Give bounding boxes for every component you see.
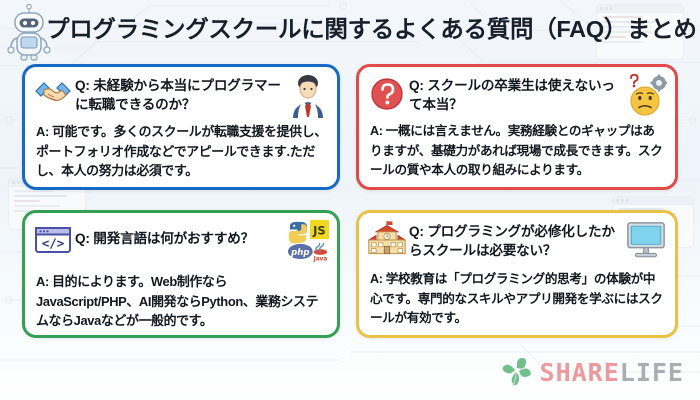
footer-logo: SHARELIFE	[500, 356, 684, 390]
faq-card-graduate-skills: Q: スクールの卒業生は使えないって本当？	[356, 64, 678, 190]
question-mark-circle-icon	[367, 74, 407, 114]
school-building-icon	[367, 220, 407, 260]
businessman-icon	[287, 74, 329, 118]
handshake-icon	[33, 74, 73, 114]
page-title: プログラミングスクールに関するよくある質問（FAQ）まとめ	[46, 12, 696, 46]
svg-text:php: php	[290, 248, 309, 258]
faq-card-school-necessity: Q: プログラミングが必修化したからスクールは必要ない？ A: 学校教育は「プロ…	[356, 210, 678, 338]
question-text: Q: プログラミングが必修化したからスクールは必要ない？	[409, 220, 623, 260]
answer-text: A: 学校教育は「プログラミング的思考」の体験が中心です。専門的なスキルやアプリ…	[359, 266, 675, 329]
svg-text:JS: JS	[312, 223, 326, 237]
svg-text:</>: </>	[42, 236, 65, 251]
question-text: Q: 未経験から本当にプログラマーに転職できるのか？	[75, 74, 285, 114]
question-text: Q: 開発言語は何がおすすめ？	[75, 220, 285, 248]
header: プログラミングスクールに関するよくある質問（FAQ）まとめ	[0, 0, 700, 62]
answer-text: A: 目的によります。Web制作ならJavaScript/PHP、AI開発ならP…	[25, 266, 337, 331]
question-row: Q: 未経験から本当にプログラマーに転職できるのか？	[25, 67, 337, 120]
logo-share-text: SHARE	[540, 358, 620, 387]
svg-text:Java: Java	[313, 257, 328, 263]
question-row: Q: スクールの卒業生は使えないって本当？	[359, 67, 675, 120]
answer-text: A: 一概には言えません。実務経験とのギャップはありますが、基礎力があれば現場で…	[359, 120, 675, 181]
question-row: Q: プログラミングが必修化したからスクールは必要ない？	[359, 213, 675, 266]
logo-text: SHARELIFE	[540, 360, 684, 386]
programming-language-logos-icon: JS php Java	[287, 220, 329, 264]
logo-life-text: LIFE	[620, 358, 684, 387]
question-row: </> Q: 開発言語は何がおすすめ？ JS	[25, 213, 337, 266]
code-window-icon: </>	[33, 220, 73, 260]
desktop-monitor-icon	[625, 220, 667, 264]
question-text: Q: スクールの卒業生は使えないって本当？	[409, 74, 623, 114]
thinking-face-gear-icon	[625, 74, 667, 118]
answer-text: A: 可能です。多くのスクールが転職支援を提供し、ポートフォリオ作成などでアピー…	[25, 120, 337, 181]
faq-card-career-change: Q: 未経験から本当にプログラマーに転職できるのか？ A: 可能です。多くのスク…	[22, 64, 340, 190]
clover-icon	[500, 358, 534, 388]
faq-infographic: プログラミングスクールに関するよくある質問（FAQ）まとめ Q: 未経験から本当…	[0, 0, 700, 400]
faq-card-language-choice: </> Q: 開発言語は何がおすすめ？ JS	[22, 210, 340, 338]
